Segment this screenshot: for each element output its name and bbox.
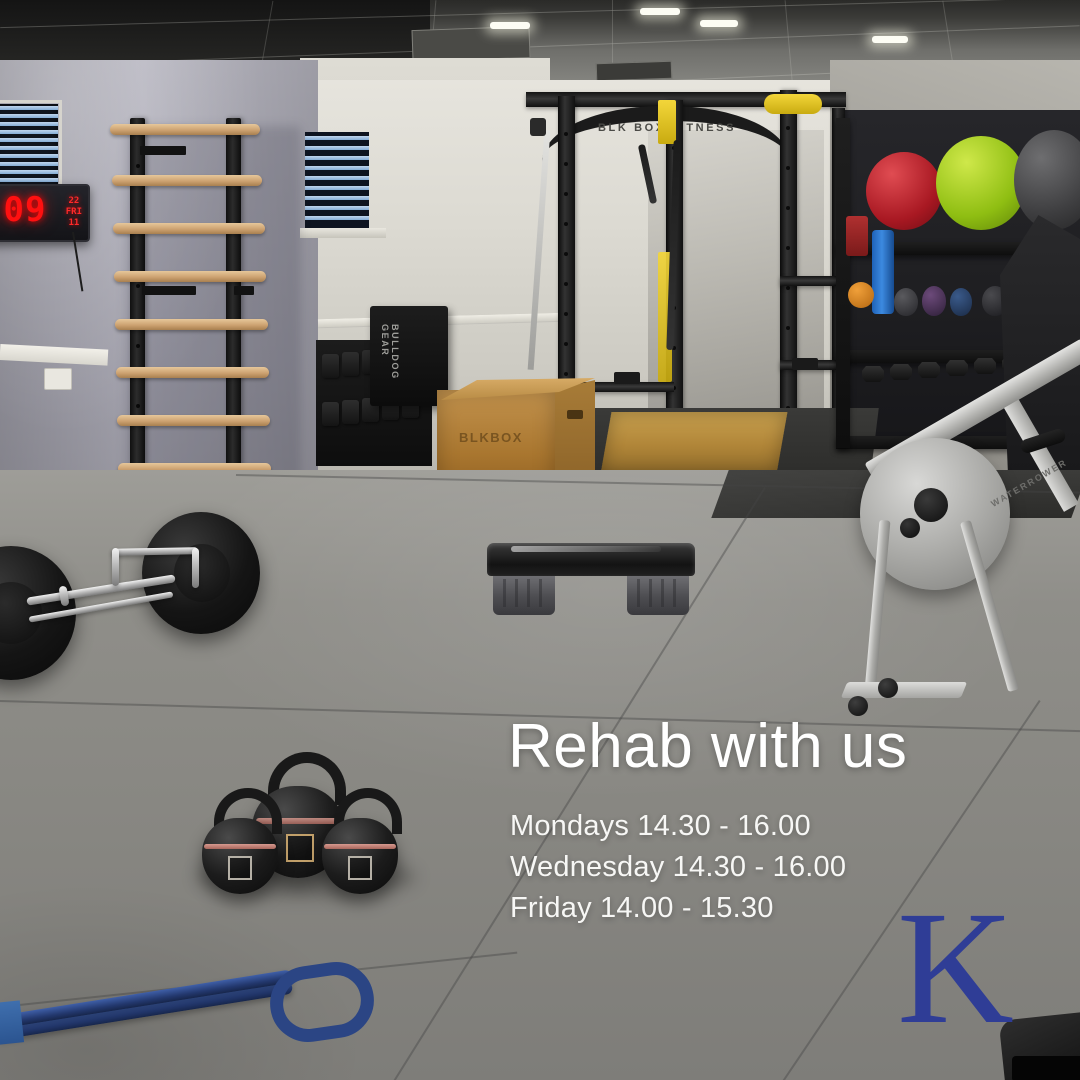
schedule-item-wednesday: Wednesday 14.30 - 16.00 [510,847,846,888]
schedule-list: Mondays 14.30 - 16.00 Wednesday 14.30 - … [510,806,846,929]
schedule-item-monday: Mondays 14.30 - 16.00 [510,806,846,847]
brand-logo-k: K [897,888,1014,1050]
schedule-item-friday: Friday 14.00 - 15.30 [510,888,846,929]
poster-text-overlay: Rehab with us Mondays 14.30 - 16.00 Wedn… [0,0,1080,1080]
page-title: Rehab with us [508,716,907,778]
gym-promo-poster: :09 22 FRI 11 [0,0,1080,1080]
